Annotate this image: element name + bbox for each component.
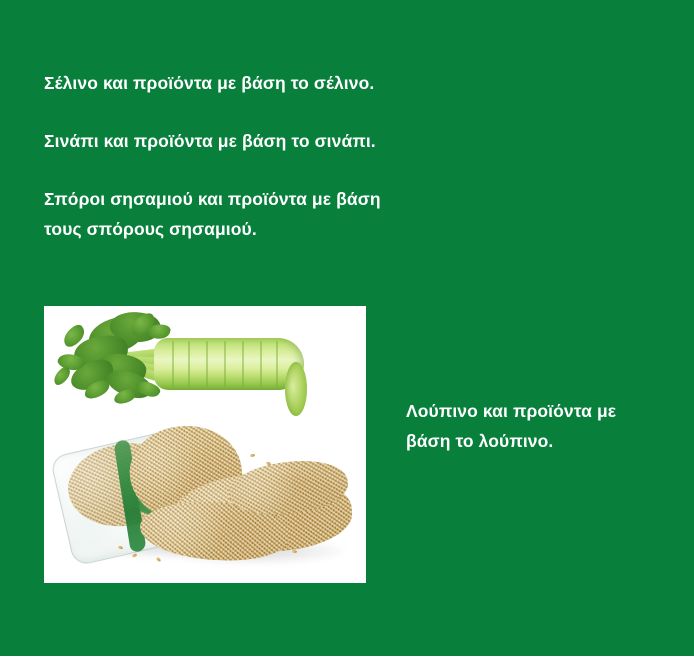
allergen-text-celery: Σέλινο και προϊόντα με βάση το σέλινο. <box>44 68 564 98</box>
sesame-seeds-jar-photo <box>44 418 366 583</box>
allergen-text-sesame: Σπόροι σησαμιού και προϊόντα με βάση του… <box>44 184 524 244</box>
slide-canvas: Σέλινο και προϊόντα με βάση το σέλινο. Σ… <box>0 0 694 659</box>
photo-panel <box>44 306 366 583</box>
celery-stalk-body <box>154 338 304 390</box>
allergen-text-mustard: Σινάπι και προϊόντα με βάση το σινάπι. <box>44 126 564 156</box>
allergen-text-lupin: Λούπινο και προϊόντα με βάση το λούπινο. <box>406 396 686 456</box>
celery-stalk-photo <box>44 310 366 418</box>
